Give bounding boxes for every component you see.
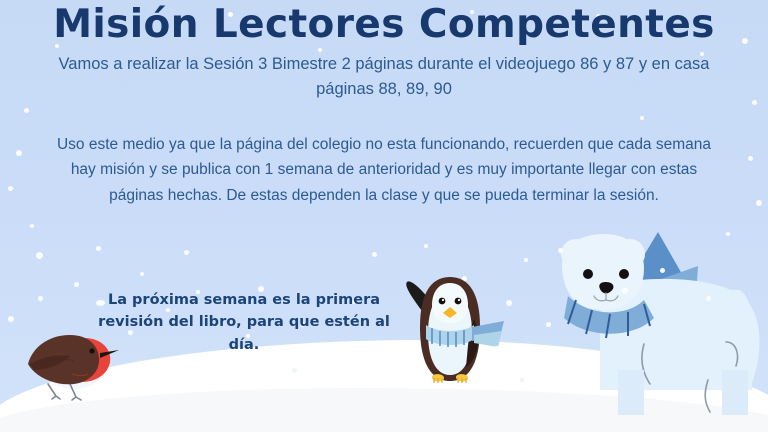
snowflake	[372, 252, 377, 257]
poster-text-block: Misión Lectores Competentes Vamos a real…	[0, 0, 768, 208]
snowflake	[520, 378, 524, 382]
snowflake	[8, 316, 14, 322]
snowflake	[36, 252, 43, 259]
snowflake	[30, 224, 34, 228]
snowflake	[292, 368, 297, 373]
snowflake	[38, 296, 43, 301]
polar-bear-with-scarf-illustration	[540, 230, 768, 415]
snowflake	[210, 360, 214, 364]
poster-body-text: Uso este medio ya que la página del cole…	[44, 132, 724, 209]
penguin-with-scarf-illustration	[388, 265, 510, 397]
poster-subtitle: Vamos a realizar la Sesión 3 Bimestre 2 …	[34, 52, 734, 102]
snowflake	[424, 244, 428, 248]
poster-canvas: Misión Lectores Competentes Vamos a real…	[0, 0, 768, 432]
snowflake	[140, 272, 144, 276]
poster-note-text: La próxima semana es la primera revisión…	[98, 289, 390, 356]
snowflake	[96, 246, 101, 251]
snowflake	[184, 250, 189, 255]
snowflake	[74, 282, 79, 287]
page-title: Misión Lectores Competentes	[0, 0, 768, 46]
snowflake	[524, 258, 528, 262]
